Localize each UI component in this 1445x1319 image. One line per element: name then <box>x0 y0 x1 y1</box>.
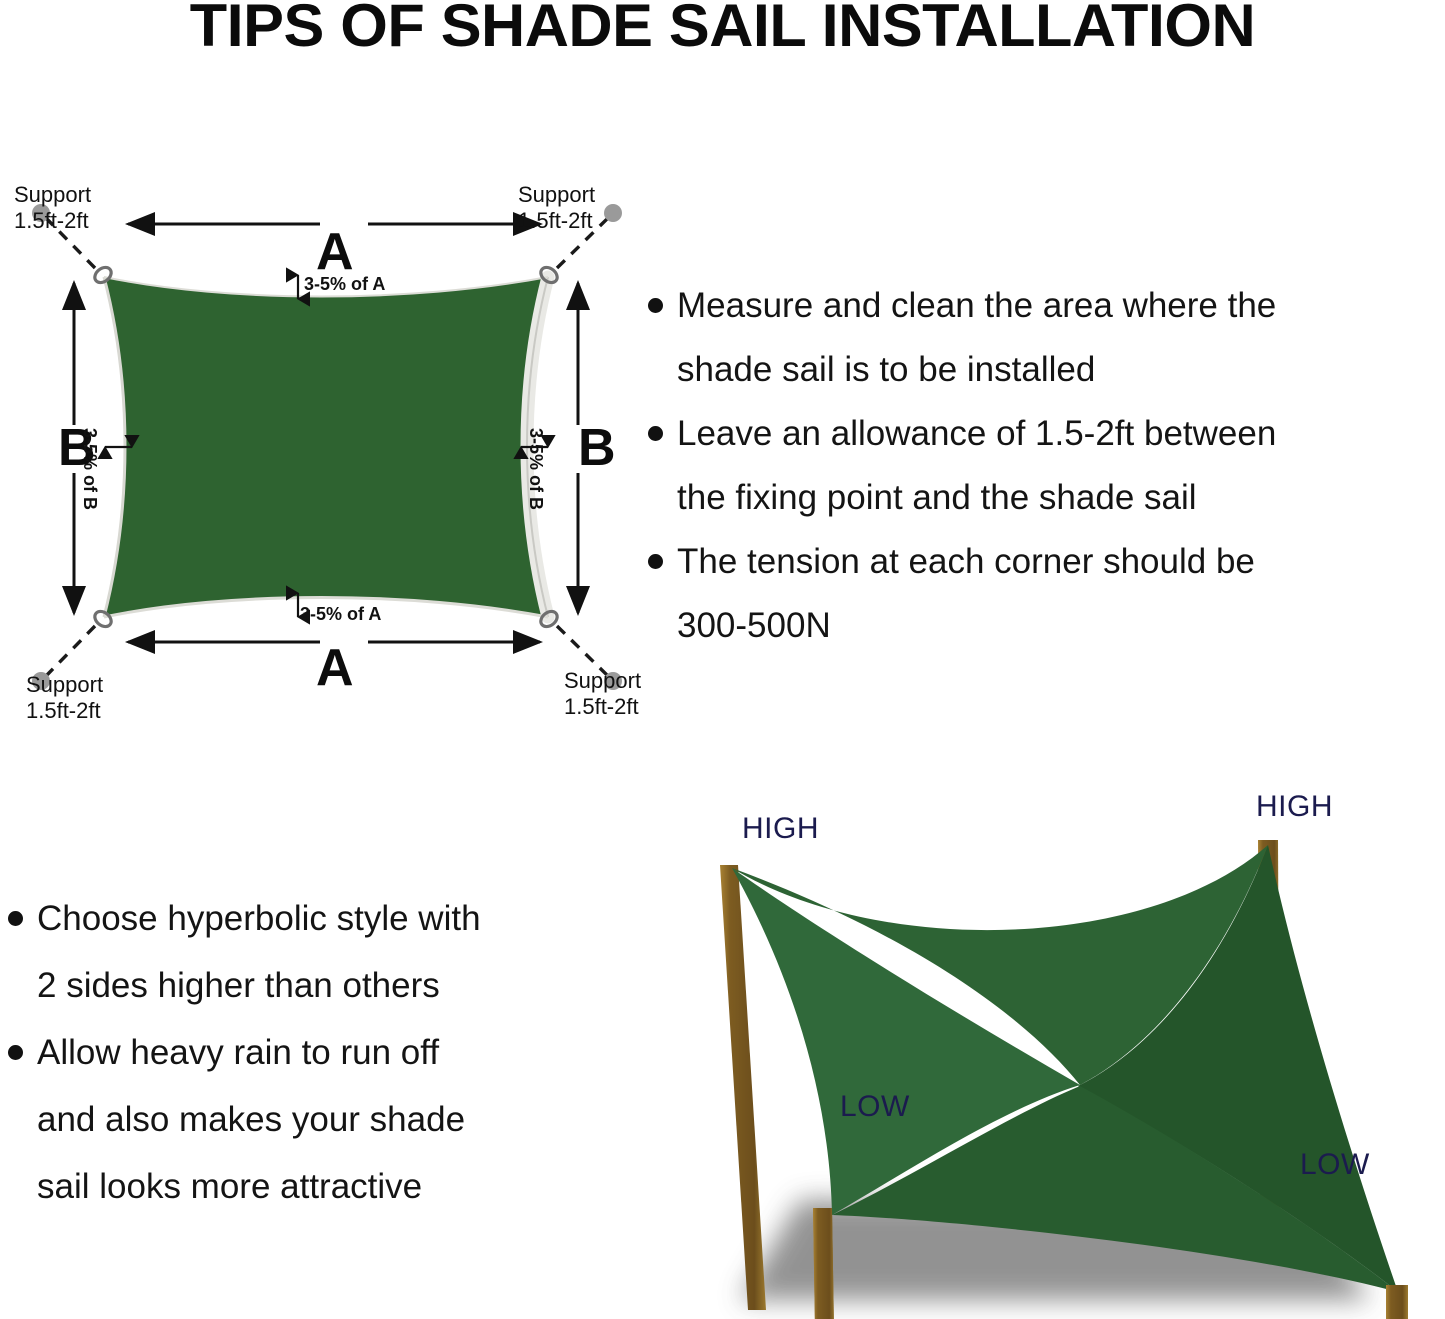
list-item-label: The tension at each corner should be 300… <box>677 530 1255 658</box>
bullet-dot-icon <box>8 911 23 926</box>
list-item-label: Measure and clean the area where the sha… <box>677 274 1276 402</box>
page-title: TIPS OF SHADE SAIL INSTALLATION <box>0 0 1445 57</box>
support-range: 1.5ft-2ft <box>518 208 595 234</box>
list-item: Leave an allowance of 1.5-2ft between th… <box>648 402 1445 530</box>
bullet-dot-icon <box>8 1045 23 1060</box>
support-callout-top-left: Support 1.5ft-2ft <box>14 182 91 234</box>
support-range: 1.5ft-2ft <box>564 694 641 720</box>
support-range: 1.5ft-2ft <box>26 698 103 724</box>
bullet-dot-icon <box>648 298 663 313</box>
bullet-dot-icon <box>648 554 663 569</box>
list-item: Measure and clean the area where the sha… <box>648 274 1445 402</box>
label-low-right: LOW <box>1300 1148 1370 1182</box>
dimension-label-b-right: B <box>578 418 616 478</box>
dimension-label-a-top: A <box>316 222 354 282</box>
support-title: Support <box>564 668 641 694</box>
list-item: Allow heavy rain to run off and also mak… <box>8 1019 628 1220</box>
bullet-dot-icon <box>648 426 663 441</box>
label-high-right: HIGH <box>1256 790 1333 824</box>
list-item: The tension at each corner should be 300… <box>648 530 1445 658</box>
list-item-label: Leave an allowance of 1.5-2ft between th… <box>677 402 1276 530</box>
support-callout-bottom-right: Support 1.5ft-2ft <box>564 668 641 720</box>
support-title: Support <box>518 182 595 208</box>
support-range: 1.5ft-2ft <box>14 208 91 234</box>
label-low-left: LOW <box>840 1090 910 1124</box>
tips-list-right: Measure and clean the area where the sha… <box>648 274 1445 658</box>
tolerance-label-b-right: 3-5% of B <box>525 428 546 510</box>
tolerance-label-b-left: 3-5% of B <box>79 428 100 510</box>
post-back-left-high <box>720 865 766 1310</box>
post-front-left-low-front <box>813 1208 835 1319</box>
post-front-right-low-front <box>1386 1285 1408 1319</box>
hyperbolic-sail-illustration: HIGH HIGH LOW LOW <box>680 780 1445 1319</box>
support-callout-bottom-left: Support 1.5ft-2ft <box>26 672 103 724</box>
list-item-label: Choose hyperbolic style with 2 sides hig… <box>37 885 481 1019</box>
tips-list-bottom-left: Choose hyperbolic style with 2 sides hig… <box>8 885 628 1220</box>
tolerance-label-a-top: 3-5% of A <box>304 274 385 295</box>
support-title: Support <box>26 672 103 698</box>
label-high-left: HIGH <box>742 812 819 846</box>
list-item: Choose hyperbolic style with 2 sides hig… <box>8 885 628 1019</box>
support-title: Support <box>14 182 91 208</box>
infographic-page: TIPS OF SHADE SAIL INSTALLATION <box>0 0 1445 1319</box>
tolerance-label-a-bottom: 3-5% of A <box>300 604 381 625</box>
list-item-label: Allow heavy rain to run off and also mak… <box>37 1019 465 1220</box>
support-callout-top-right: Support 1.5ft-2ft <box>518 182 595 234</box>
sail-shape-top <box>104 277 548 617</box>
dimension-label-a-bottom: A <box>316 638 354 698</box>
